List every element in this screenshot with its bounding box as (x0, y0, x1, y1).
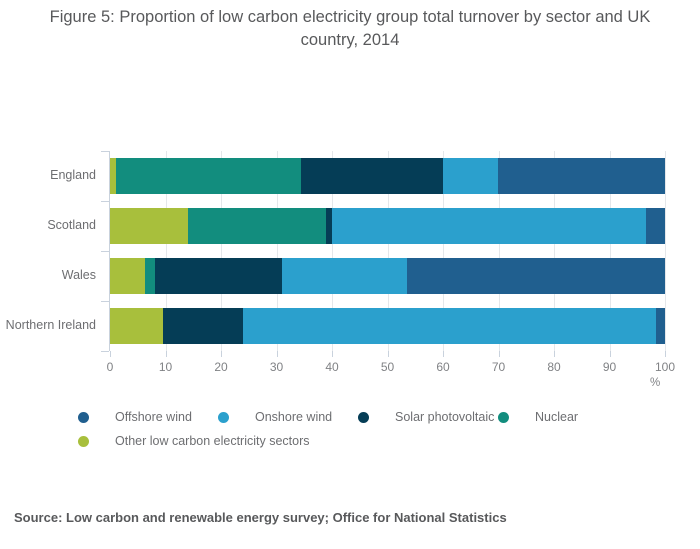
x-tick-mark (665, 351, 666, 357)
y-tick-label: Northern Ireland (0, 318, 96, 332)
x-tick-mark (499, 351, 500, 357)
x-tick-mark (221, 351, 222, 357)
bar-segment[interactable] (301, 158, 443, 194)
bar-segment[interactable] (282, 258, 407, 294)
legend-item[interactable]: Other low carbon electricity sectors (78, 429, 310, 453)
x-tick-mark (332, 351, 333, 357)
x-tick-label: 50 (381, 360, 394, 374)
x-tick-mark (554, 351, 555, 357)
legend-swatch-icon (78, 436, 89, 447)
x-axis-title: % (650, 377, 660, 389)
x-tick-label: 100 (655, 360, 675, 374)
bar-segment[interactable] (110, 308, 163, 344)
x-tick-label: 30 (270, 360, 283, 374)
x-tick-mark (443, 351, 444, 357)
bar-segment[interactable] (110, 258, 145, 294)
bar-segment[interactable] (116, 158, 302, 194)
bar-segment[interactable] (243, 308, 655, 344)
bar-group-wales[interactable] (110, 258, 665, 294)
y-tick-mark (101, 151, 109, 152)
x-tick-mark (277, 351, 278, 357)
bar-segment[interactable] (443, 158, 499, 194)
source-note: Source: Low carbon and renewable energy … (14, 510, 507, 525)
x-tick-mark (388, 351, 389, 357)
y-tick-mark (101, 201, 109, 202)
x-tick-label: 80 (547, 360, 560, 374)
x-tick-label: 0 (107, 360, 114, 374)
bar-group-england[interactable] (110, 158, 665, 194)
grid-line (665, 151, 666, 351)
bar-segment[interactable] (656, 308, 665, 344)
y-tick-label: England (0, 168, 96, 182)
x-tick-label: 20 (214, 360, 227, 374)
bar-segment[interactable] (188, 208, 327, 244)
y-tick-label: Scotland (0, 218, 96, 232)
bar-segment[interactable] (332, 208, 646, 244)
x-tick-label: 60 (436, 360, 449, 374)
bar-segment[interactable] (155, 258, 282, 294)
bar-group-scotland[interactable] (110, 208, 665, 244)
x-tick-label: 70 (492, 360, 505, 374)
bar-segment[interactable] (646, 208, 665, 244)
legend-label: Other low carbon electricity sectors (115, 434, 310, 448)
x-tick-mark (110, 351, 111, 357)
bar-segment[interactable] (110, 208, 188, 244)
chart-plot: EnglandScotlandWalesNorthern Ireland 010… (0, 0, 700, 549)
x-tick-label: 40 (325, 360, 338, 374)
bar-segment[interactable] (498, 158, 665, 194)
y-tick-label: Wales (0, 268, 96, 282)
x-tick-mark (166, 351, 167, 357)
x-tick-label: 90 (603, 360, 616, 374)
y-tick-mark (101, 251, 109, 252)
legend-row: Other low carbon electricity sectors (78, 405, 678, 429)
y-tick-mark (101, 351, 109, 352)
bar-segment[interactable] (163, 308, 243, 344)
x-tick-label: 10 (159, 360, 172, 374)
bar-group-northern-ireland[interactable] (110, 308, 665, 344)
bar-segment[interactable] (407, 258, 665, 294)
y-tick-mark (101, 301, 109, 302)
bar-segment[interactable] (145, 258, 156, 294)
x-tick-mark (610, 351, 611, 357)
